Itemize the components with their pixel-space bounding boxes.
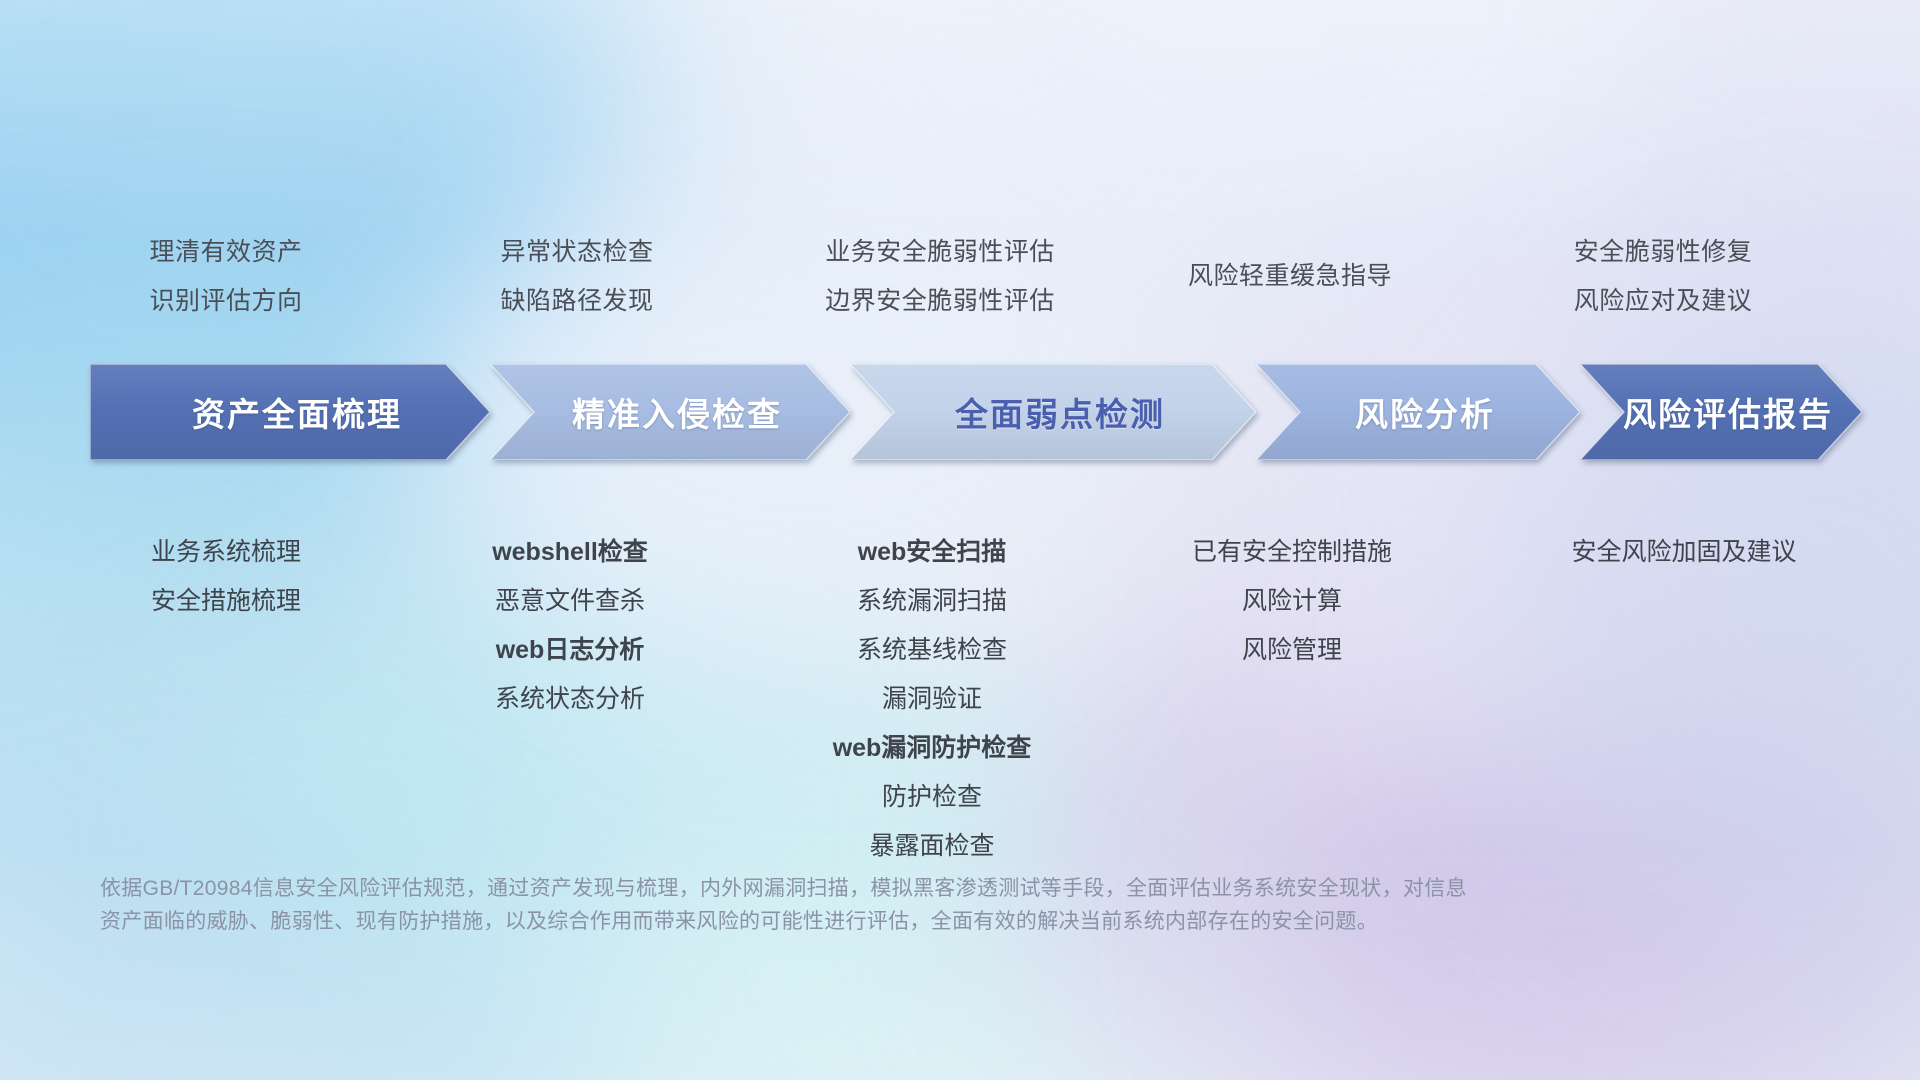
list-risk-report: 安全风险加固及建议 — [1424, 528, 1920, 577]
footer-line-1: 依据GB/T20984信息安全风险评估规范，通过资产发现与梳理，内外网漏洞扫描，… — [100, 872, 1740, 905]
top-label-line: 安全脆弱性修复 — [1413, 228, 1913, 277]
process-flow-band: 资产全面梳理精准入侵检查全面弱点检测风险分析风险评估报告 — [90, 364, 1862, 460]
chevron-label: 风险分析 — [1256, 388, 1580, 436]
footer-line-2: 资产面临的威胁、脆弱性、现有防护措施，以及综合作用而带来风险的可能性进行评估，全… — [100, 905, 1740, 938]
top-label-row: 理清有效资产识别评估方向异常状态检查缺陷路径发现业务安全脆弱性评估边界安全脆弱性… — [88, 228, 1878, 338]
step-risk-report[interactable]: 风险评估报告 — [1580, 364, 1862, 460]
chevron-label: 精准入侵检查 — [490, 388, 850, 436]
step-asset-inventory[interactable]: 资产全面梳理 — [90, 364, 490, 460]
list-item: 防护检查 — [672, 773, 1192, 822]
list-item: 风险计算 — [1032, 577, 1552, 626]
list-item: 暴露面检查 — [672, 822, 1192, 871]
chevron-label: 资产全面梳理 — [90, 388, 490, 436]
chevron-label: 全面弱点检测 — [850, 388, 1256, 436]
step-risk-analysis[interactable]: 风险分析 — [1256, 364, 1580, 460]
step-intrusion-check[interactable]: 精准入侵检查 — [490, 364, 850, 460]
step-weakness-detect[interactable]: 全面弱点检测 — [850, 364, 1256, 460]
top-label-group-risk-report: 安全脆弱性修复风险应对及建议 — [1413, 228, 1913, 326]
footer-description: 依据GB/T20984信息安全风险评估规范，通过资产发现与梳理，内外网漏洞扫描，… — [100, 872, 1740, 938]
list-item: 漏洞验证 — [672, 675, 1192, 724]
chevron-label: 风险评估报告 — [1580, 388, 1862, 436]
list-item: 风险管理 — [1032, 626, 1552, 675]
top-label-line: 风险应对及建议 — [1413, 277, 1913, 326]
process-diagram: 理清有效资产识别评估方向异常状态检查缺陷路径发现业务安全脆弱性评估边界安全脆弱性… — [0, 0, 1920, 1080]
list-item: 安全风险加固及建议 — [1424, 528, 1920, 577]
list-item: web漏洞防护检查 — [672, 724, 1192, 773]
